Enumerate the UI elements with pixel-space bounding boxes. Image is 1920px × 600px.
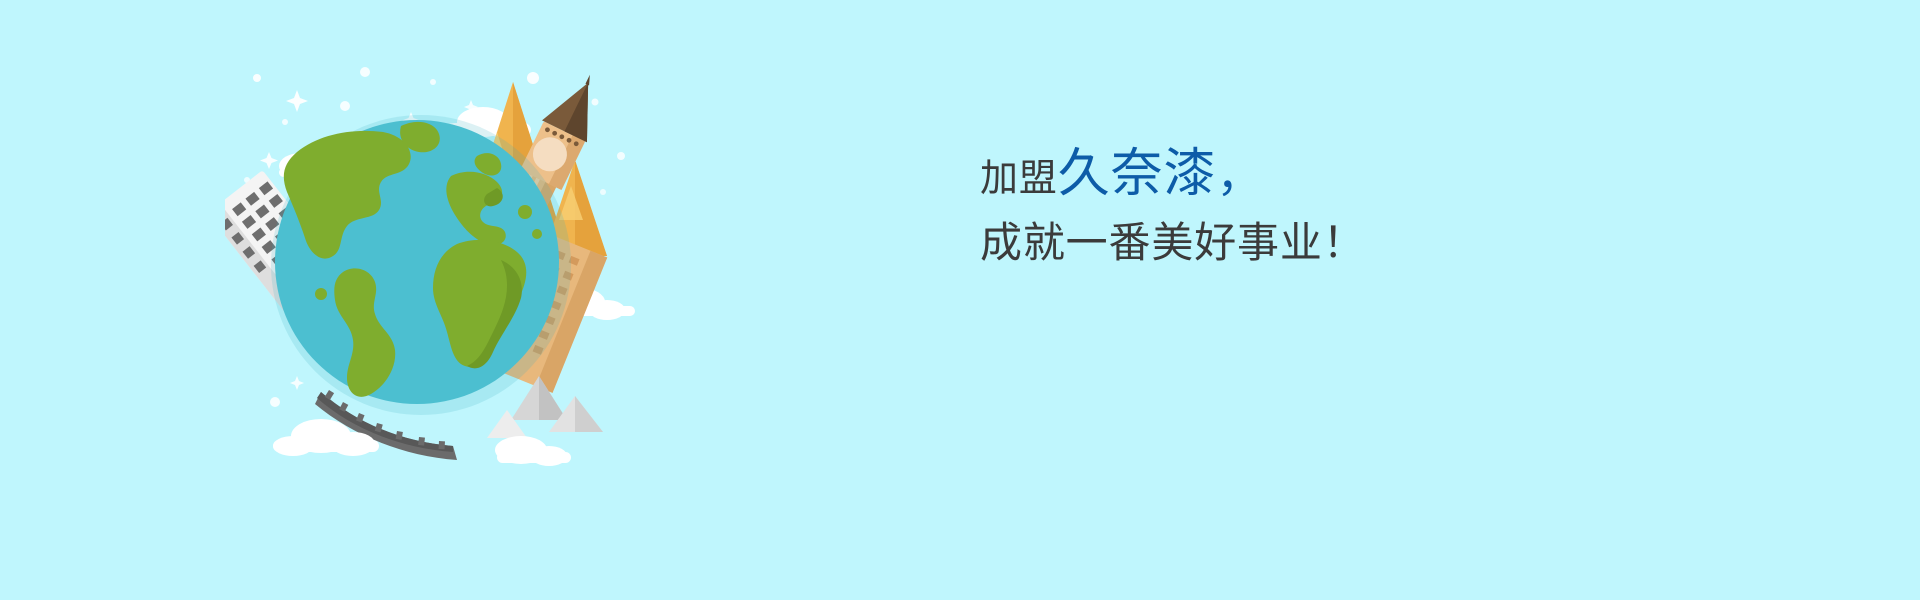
brand-name: 久奈漆 xyxy=(1058,145,1217,203)
cloud-bottom-right xyxy=(495,436,571,466)
headline-block: 加盟久奈漆， 成就一番美好事业！ xyxy=(980,148,1680,264)
headline-line-1: 加盟久奈漆， xyxy=(980,148,1680,200)
headline-subtext: 成就一番美好事业！ xyxy=(980,219,1366,266)
promo-banner: 加盟久奈漆， 成就一番美好事业！ xyxy=(0,0,1920,600)
headline-line-2: 成就一番美好事业！ xyxy=(980,222,1680,264)
headline-comma: ， xyxy=(1216,149,1263,201)
headline-prefix: 加盟 xyxy=(980,158,1058,200)
globe-illustration xyxy=(225,60,645,480)
globe xyxy=(274,120,559,404)
